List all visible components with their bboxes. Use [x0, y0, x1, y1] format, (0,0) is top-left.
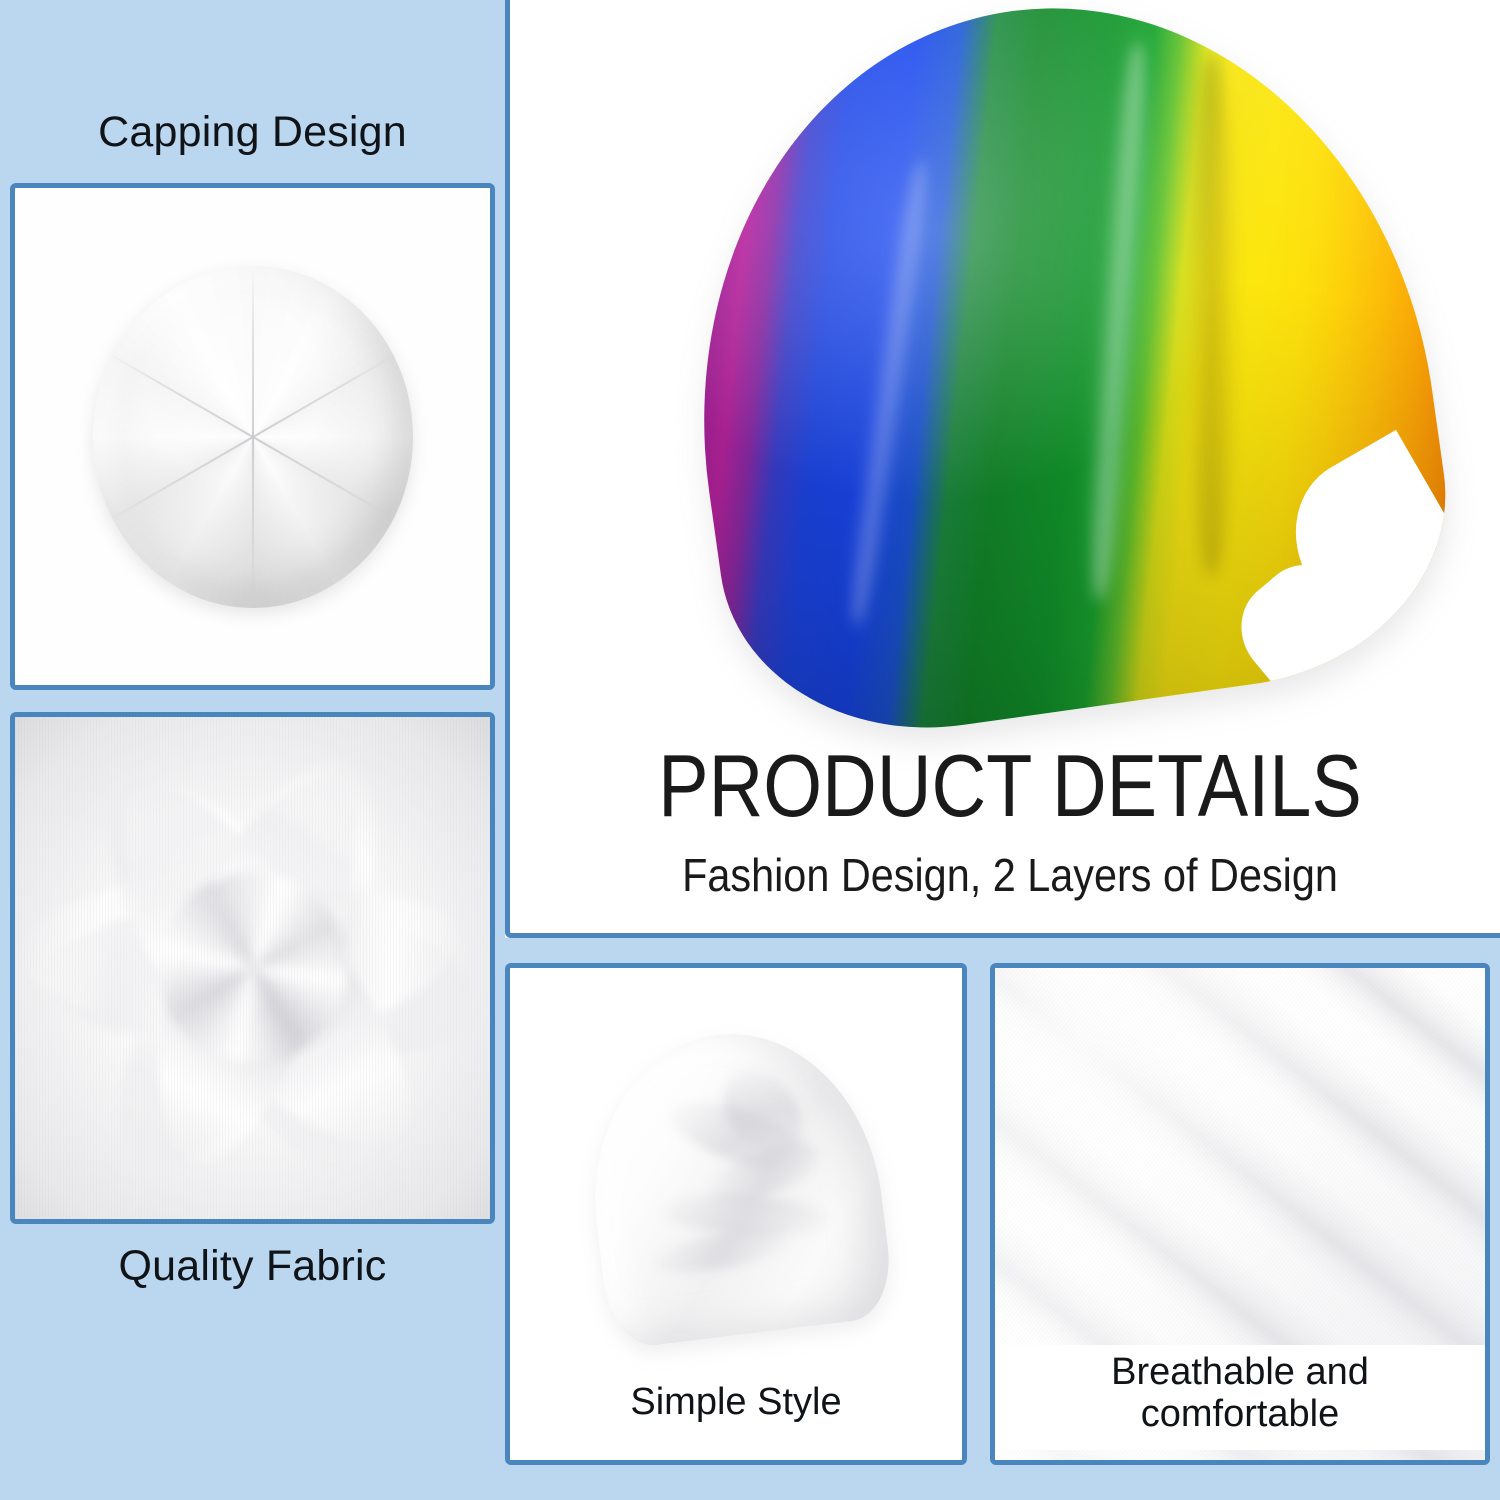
capping-design-title: Capping Design	[0, 108, 505, 157]
page-title: PRODUCT DETAILS	[580, 742, 1440, 830]
product-details-card: PRODUCT DETAILS Fashion Design, 2 Layers…	[505, 0, 1500, 938]
cap-seam	[252, 266, 254, 437]
infographic-canvas: Capping Design Quality	[0, 0, 1500, 1500]
breathable-caption-line2: comfortable	[1003, 1393, 1477, 1436]
beanie-body	[576, 1018, 896, 1351]
rainbow-beanie-icon	[694, 8, 1424, 708]
swirled-fabric-icon	[15, 717, 490, 1219]
fabric-vignette	[15, 717, 490, 1219]
breathable-caption: Breathable and comfortable	[995, 1345, 1485, 1450]
beanie-body	[649, 0, 1469, 755]
cap-crown	[93, 266, 413, 608]
breathable-card: Breathable and comfortable	[990, 963, 1490, 1465]
simple-style-card: Simple Style	[505, 963, 967, 1465]
simple-style-caption: Simple Style	[510, 1375, 962, 1438]
white-round-cap-icon	[15, 188, 490, 685]
quality-fabric-title: Quality Fabric	[0, 1242, 505, 1291]
beanie-crease	[1186, 56, 1238, 576]
cap-seam	[252, 437, 254, 608]
page-subtitle: Fashion Design, 2 Layers of Design	[560, 852, 1460, 898]
quality-fabric-card	[10, 712, 495, 1224]
breathable-caption-line1: Breathable and	[1003, 1351, 1477, 1394]
capping-design-card	[10, 183, 495, 690]
